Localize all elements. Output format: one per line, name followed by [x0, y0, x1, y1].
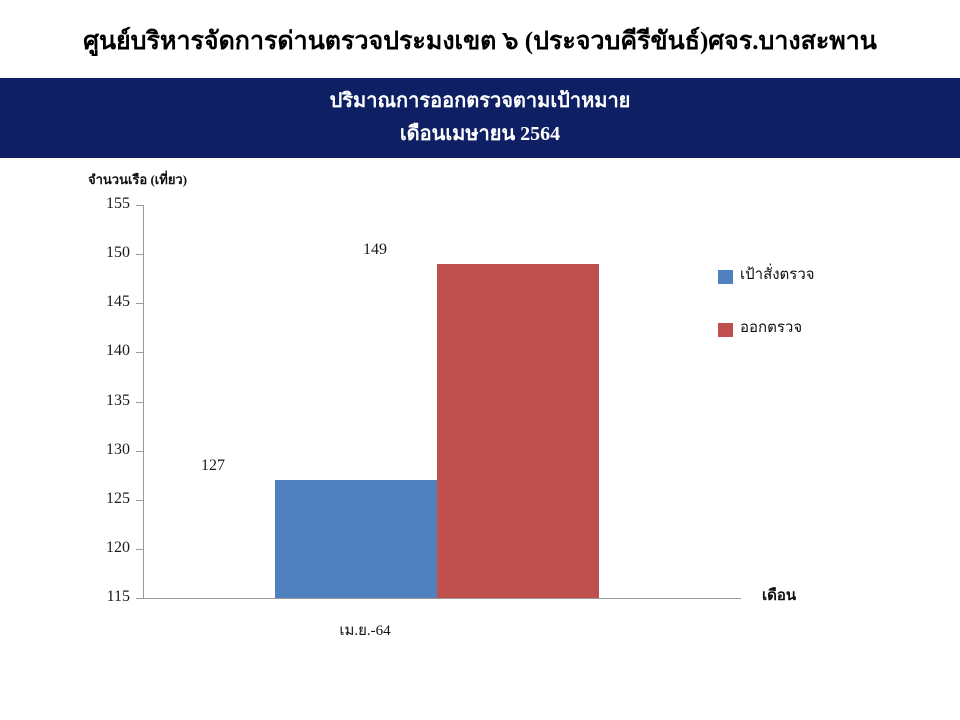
bar-actual-value-label: 149 [294, 240, 456, 260]
legend-swatch-target [718, 270, 733, 284]
banner-title-line-2: เดือนเมษายน 2564 [0, 118, 960, 151]
legend-label-target: เป้าสั่งตรวจ [740, 265, 815, 286]
y-axis-tick-label: 135 [88, 391, 130, 411]
legend-swatch-actual [718, 323, 733, 337]
x-axis-line [143, 598, 741, 599]
y-axis-tick-mark [136, 402, 143, 403]
y-axis-title: จำนวนเรือ (เที่ยว) [88, 172, 187, 188]
x-axis-category-label: เม.ย.-64 [143, 622, 740, 641]
y-axis-tick-label: 120 [88, 538, 130, 558]
legend-item-actual[interactable]: ออกตรวจ [718, 321, 938, 374]
x-axis-title: เดือน [762, 586, 796, 606]
y-axis-tick-label: 115 [88, 587, 130, 607]
y-axis-tick-mark [136, 205, 143, 206]
y-axis-tick-label: 130 [88, 440, 130, 460]
bar-target[interactable] [275, 480, 437, 598]
y-axis-tick-label: 125 [88, 489, 130, 509]
y-axis-tick-label: 150 [88, 243, 130, 263]
plot-area [143, 205, 740, 598]
y-axis-tick-label: 145 [88, 292, 130, 312]
chart-legend: เป้าสั่งตรวจ ออกตรวจ [718, 268, 938, 374]
y-axis-tick-mark [136, 500, 143, 501]
y-axis-tick-mark [136, 451, 143, 452]
y-axis-tick-mark [136, 598, 143, 599]
y-axis-tick-mark [136, 352, 143, 353]
bar-chart: จำนวนเรือ (เที่ยว) 155150145140135130125… [0, 158, 960, 720]
y-axis-tick-mark [136, 549, 143, 550]
legend-label-actual: ออกตรวจ [740, 318, 802, 339]
page-title: ศูนย์บริหารจัดการด่านตรวจประมงเขต ๖ (ประ… [0, 26, 960, 58]
y-axis-tick-mark [136, 254, 143, 255]
chart-title-banner: ปริมาณการออกตรวจตามเป้าหมาย เดือนเมษายน … [0, 78, 960, 158]
legend-item-target[interactable]: เป้าสั่งตรวจ [718, 268, 938, 321]
banner-title-line-1: ปริมาณการออกตรวจตามเป้าหมาย [0, 85, 960, 118]
y-axis-tick-label: 155 [88, 194, 130, 214]
y-axis-tick-label: 140 [88, 341, 130, 361]
bar-actual[interactable] [437, 264, 599, 598]
bar-target-value-label: 127 [132, 456, 294, 476]
y-axis-tick-mark [136, 303, 143, 304]
